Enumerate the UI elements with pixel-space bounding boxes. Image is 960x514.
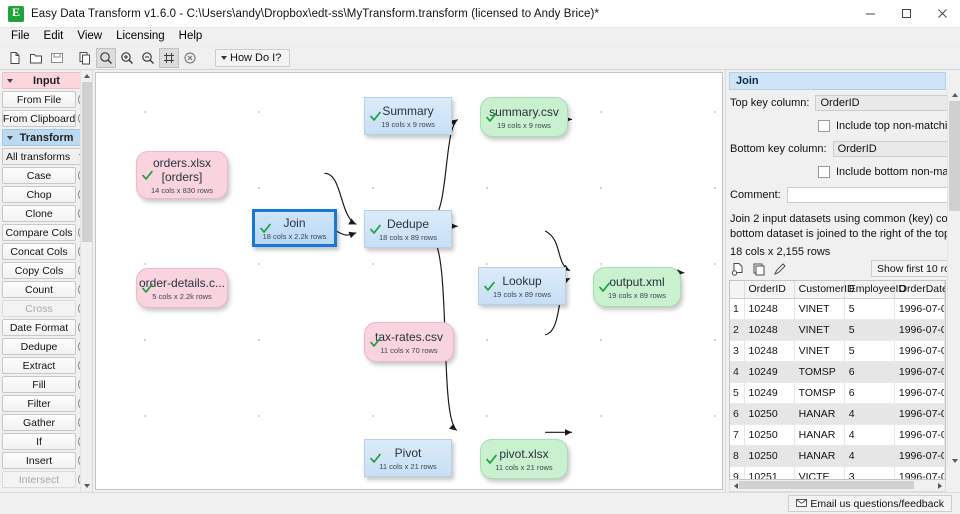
sidebar-input-list: From File?From Clipboard? <box>2 91 91 129</box>
table-cell[interactable]: VICTE <box>794 466 844 480</box>
node-label: Pivot <box>395 446 422 460</box>
sidebar-transform-compare-cols[interactable]: Compare Cols <box>2 224 76 241</box>
table-cell[interactable]: 10248 <box>744 340 794 361</box>
top-key-select[interactable]: OrderID <box>815 95 957 111</box>
table-cell[interactable]: 10249 <box>744 382 794 403</box>
app-logo-icon <box>8 6 24 22</box>
check-mark-icon <box>485 453 497 465</box>
grid-dot <box>714 111 716 113</box>
node-size-label: 18 cols x 2.2k rows <box>263 232 327 241</box>
grid-dot <box>144 263 146 265</box>
column-header-orderdate[interactable]: OrderDate <box>894 281 944 298</box>
check-mark-icon <box>141 282 153 294</box>
sidebar-row: Fill? <box>2 376 91 393</box>
row-number: 3 <box>730 340 744 361</box>
table-cell[interactable]: 6 <box>844 361 894 382</box>
flow-canvas[interactable]: orders.xlsx[orders]14 cols x 830 rowsord… <box>95 72 723 490</box>
inspector-form: Top key column: OrderID Include top non-… <box>726 90 960 210</box>
sidebar-input-label: Input <box>33 75 60 87</box>
scrollbar-thumb[interactable] <box>82 82 92 242</box>
include-bottom-checkbox[interactable] <box>818 166 830 178</box>
table-cell[interactable]: VINET <box>794 298 844 319</box>
sidebar-transform-intersect: Intersect <box>2 471 76 488</box>
zoom-fit-icon[interactable] <box>96 48 116 68</box>
sidebar-transform-fill[interactable]: Fill <box>2 376 76 393</box>
row-number: 4 <box>730 361 744 382</box>
table-cell[interactable]: HANAR <box>794 424 844 445</box>
window-title: Easy Data Transform v1.6.0 - C:\Users\an… <box>31 8 599 20</box>
triangle-down-icon <box>84 484 90 488</box>
canvas-node-dedupe[interactable]: Dedupe18 cols x 89 rows <box>364 210 452 248</box>
grid-dot <box>258 111 260 113</box>
include-top-label: Include top non-matching r <box>836 120 960 132</box>
scrollbar-thumb[interactable] <box>949 101 960 211</box>
menu-view[interactable]: View <box>70 28 109 46</box>
sidebar-row: Chop? <box>2 186 91 203</box>
grid-dot <box>600 111 602 113</box>
row-number-header <box>730 281 744 298</box>
table-cell[interactable]: 1996-07-04 <box>894 340 944 361</box>
email-feedback-label: Email us questions/feedback <box>810 498 944 510</box>
canvas-node-join[interactable]: Join18 cols x 2.2k rows <box>252 209 337 247</box>
grid-dot <box>486 339 488 341</box>
transform-filter-value: All transforms <box>6 151 70 163</box>
sidebar-row: Compare Cols? <box>2 224 91 241</box>
sidebar-transform-chop[interactable]: Chop <box>2 186 76 203</box>
table-row[interactable]: 510249TOMSP61996-07-05 <box>730 382 945 403</box>
table-cell[interactable]: 4 <box>844 445 894 466</box>
table-cell[interactable]: 1996-07-08 <box>894 424 944 445</box>
grid-dot <box>258 263 260 265</box>
node-size-label: 18 cols x 89 rows <box>379 233 437 242</box>
triangle-right-icon <box>938 483 942 489</box>
include-top-checkbox[interactable] <box>818 120 830 132</box>
sidebar-transform-gather[interactable]: Gather <box>2 414 76 431</box>
bottom-key-row: Bottom key column: OrderID <box>730 141 957 157</box>
table-cell[interactable]: 5 <box>844 319 894 340</box>
status-bar: Email us questions/feedback <box>0 492 960 514</box>
check-mark-icon <box>369 223 381 235</box>
table-cell[interactable]: 1996-07-05 <box>894 361 944 382</box>
canvas-node-output-xml[interactable]: output.xml19 cols x 89 rows <box>593 267 681 307</box>
table-row[interactable]: 710250HANAR41996-07-08 <box>730 424 945 445</box>
triangle-down-icon <box>952 459 958 463</box>
menu-edit[interactable]: Edit <box>37 28 71 46</box>
sidebar-row: Date Format? <box>2 319 91 336</box>
check-mark-icon <box>598 281 610 293</box>
bottom-key-label: Bottom key column: <box>730 143 827 155</box>
canvas-node-summary-csv[interactable]: summary.csv19 cols x 9 rows <box>480 97 568 137</box>
scroll-up-button[interactable] <box>948 88 960 101</box>
grid-dot <box>144 339 146 341</box>
menu-licensing[interactable]: Licensing <box>109 28 172 46</box>
scroll-up-button[interactable] <box>81 70 93 82</box>
table-cell[interactable]: 1996-07-08 <box>894 466 944 480</box>
node-size-label: 11 cols x 21 rows <box>495 463 552 472</box>
include-top-row: Include top non-matching r <box>730 118 957 134</box>
row-number: 2 <box>730 319 744 340</box>
dataset-size-label: 18 cols x 2,155 rows <box>726 242 960 260</box>
node-label: Dedupe <box>387 217 429 231</box>
sidebar-row: Copy Cols? <box>2 262 91 279</box>
table-row[interactable]: 910251VICTE31996-07-08 <box>730 466 945 480</box>
grid-dot <box>372 263 374 265</box>
sidebar-row: Count? <box>2 281 91 298</box>
node-size-label: 19 cols x 9 rows <box>497 121 551 130</box>
grid-horizontal-scrollbar[interactable] <box>729 480 946 492</box>
table-cell[interactable]: 1996-07-05 <box>894 382 944 403</box>
sidebar-row: Clone? <box>2 205 91 222</box>
node-size-label: 14 cols x 830 rows <box>151 186 213 195</box>
grid-icon[interactable] <box>159 48 179 68</box>
inspector-scrollbar[interactable] <box>947 88 960 467</box>
table-cell[interactable]: 3 <box>844 466 894 480</box>
comment-row: Comment: <box>730 187 957 203</box>
node-label: tax-rates.csv <box>375 330 443 344</box>
sidebar-row: Filter? <box>2 395 91 412</box>
save-icon[interactable] <box>47 48 67 68</box>
node-size-label: 19 cols x 9 rows <box>381 120 435 129</box>
hscroll-thumb[interactable] <box>739 481 914 489</box>
grid-dot <box>600 187 602 189</box>
table-cell[interactable]: 1996-07-08 <box>894 445 944 466</box>
canvas-node-lookup[interactable]: Lookup19 cols x 89 rows <box>478 267 566 305</box>
sidebar-input-from-clipboard[interactable]: From Clipboard <box>2 110 76 127</box>
table-cell[interactable]: 6 <box>844 382 894 403</box>
node-label: Join <box>283 216 305 230</box>
check-mark-icon <box>369 110 381 122</box>
sidebar-section-transform[interactable]: Transform <box>2 129 91 146</box>
sidebar-transform-extract[interactable]: Extract <box>2 357 76 374</box>
inspector-toolbar: Show first 10 ro <box>726 260 960 279</box>
check-mark-icon <box>141 169 153 181</box>
table-cell[interactable]: 10250 <box>744 445 794 466</box>
sidebar-scroll-area: Input From File?From Clipboard? Transfor… <box>0 70 92 492</box>
grid-dot <box>258 187 260 189</box>
node-label: Summary <box>382 104 433 118</box>
sidebar-transform-insert[interactable]: Insert <box>2 452 76 469</box>
toolbar: How Do I? <box>0 47 960 70</box>
grid-dot <box>144 111 146 113</box>
top-key-label: Top key column: <box>730 97 809 109</box>
table-row[interactable]: 110248VINET51996-07-04 <box>730 298 945 319</box>
table-cell[interactable]: 10250 <box>744 424 794 445</box>
triangle-up-icon <box>952 93 958 97</box>
column-header-customerid[interactable]: CustomerID <box>794 281 844 298</box>
data-grid[interactable]: OrderIDCustomerIDEmployeeIDOrderDate 110… <box>729 280 946 480</box>
canvas-node-tax-rates[interactable]: tax-rates.csv11 cols x 70 rows <box>364 322 454 362</box>
check-mark-icon <box>369 452 381 464</box>
table-cell[interactable]: HANAR <box>794 403 844 424</box>
copy-clipboard-icon[interactable] <box>751 261 766 276</box>
canvas-node-order-details[interactable]: order-details.c...5 cols x 2.2k rows <box>136 268 228 308</box>
node-sublabel: [orders] <box>162 170 203 184</box>
main-body: Input From File?From Clipboard? Transfor… <box>0 70 960 492</box>
transform-filter-select[interactable]: All transforms <box>2 148 91 165</box>
scroll-right-button[interactable] <box>936 482 943 489</box>
include-bottom-label: Include bottom non-matchi <box>836 166 960 178</box>
sidebar-transform-date-format[interactable]: Date Format <box>2 319 76 336</box>
cancel-icon[interactable] <box>180 48 200 68</box>
grid-dot <box>372 187 374 189</box>
grid-dot <box>372 415 374 417</box>
title-bar: Easy Data Transform v1.6.0 - C:\Users\an… <box>0 0 960 28</box>
table-row[interactable]: 310248VINET51996-07-04 <box>730 340 945 361</box>
include-bottom-row: Include bottom non-matchi <box>730 164 957 180</box>
table-cell[interactable]: 5 <box>844 298 894 319</box>
node-label: summary.csv <box>489 105 559 119</box>
row-number: 8 <box>730 445 744 466</box>
check-mark-icon <box>485 111 497 123</box>
grid-dot <box>600 339 602 341</box>
new-file-icon[interactable] <box>730 261 745 276</box>
table-cell[interactable]: TOMSP <box>794 361 844 382</box>
grid-dot <box>486 415 488 417</box>
sidebar-transform-if[interactable]: If <box>2 433 76 450</box>
table-cell[interactable]: TOMSP <box>794 382 844 403</box>
node-size-label: 11 cols x 70 rows <box>380 346 437 355</box>
node-label: pivot.xlsx <box>499 447 548 461</box>
sidebar-row: From Clipboard? <box>2 110 91 127</box>
menu-file[interactable]: File <box>4 28 37 46</box>
application-window: Easy Data Transform v1.6.0 - C:\Users\an… <box>0 0 960 514</box>
table-row[interactable]: 810250HANAR41996-07-08 <box>730 445 945 466</box>
triangle-left-icon <box>734 483 738 489</box>
sidebar-row: Concat Cols? <box>2 243 91 260</box>
sidebar-row: Insert? <box>2 452 91 469</box>
sidebar-transform-case[interactable]: Case <box>2 167 76 184</box>
collapse-triangle-icon <box>7 79 13 83</box>
check-mark-icon <box>259 222 271 234</box>
left-sidebar: Input From File?From Clipboard? Transfor… <box>0 70 93 492</box>
sidebar-section-input[interactable]: Input <box>2 72 91 89</box>
sidebar-row: Gather? <box>2 414 91 431</box>
canvas-node-pivot-xlsx[interactable]: pivot.xlsx11 cols x 21 rows <box>480 439 568 479</box>
sidebar-row: From File? <box>2 91 91 108</box>
collapse-triangle-icon <box>7 136 13 140</box>
minimize-button[interactable] <box>852 0 888 28</box>
table-cell[interactable]: 5 <box>844 340 894 361</box>
edit-pencil-icon[interactable] <box>772 261 787 276</box>
table-header-row: OrderIDCustomerIDEmployeeIDOrderDate <box>730 281 945 298</box>
inspector-description: Join 2 input datasets using common (key)… <box>726 210 960 242</box>
comment-input[interactable] <box>787 187 957 203</box>
scroll-down-button[interactable] <box>81 480 93 492</box>
grid-dot <box>486 263 488 265</box>
node-size-label: 19 cols x 89 rows <box>493 290 551 299</box>
table-cell[interactable]: 10250 <box>744 403 794 424</box>
how-do-i-button[interactable]: How Do I? <box>215 49 290 67</box>
grid-dot <box>600 263 602 265</box>
node-label: output.xml <box>609 275 664 289</box>
sidebar-row: Cross? <box>2 300 91 317</box>
table-cell[interactable]: 4 <box>844 403 894 424</box>
table-cell[interactable]: 1996-07-04 <box>894 319 944 340</box>
sidebar-row: Intersect? <box>2 471 91 488</box>
node-size-label: 11 cols x 21 rows <box>379 462 436 471</box>
column-header-employeeid[interactable]: EmployeeID <box>844 281 894 298</box>
canvas-area: orders.xlsx[orders]14 cols x 830 rowsord… <box>93 70 725 492</box>
row-number: 1 <box>730 298 744 319</box>
sidebar-row: Extract? <box>2 357 91 374</box>
grid-dot <box>600 415 602 417</box>
sidebar-transform-label: Transform <box>20 132 74 144</box>
grid-dot <box>486 187 488 189</box>
table-cell[interactable]: 1996-07-04 <box>894 298 944 319</box>
row-number: 6 <box>730 403 744 424</box>
node-size-label: 19 cols x 89 rows <box>608 291 666 300</box>
scroll-left-button[interactable] <box>732 482 739 489</box>
canvas-node-pivot[interactable]: Pivot11 cols x 21 rows <box>364 439 452 477</box>
table-cell[interactable]: 10249 <box>744 361 794 382</box>
table-cell[interactable]: 4 <box>844 424 894 445</box>
table-body: 110248VINET51996-07-04210248VINET51996-0… <box>730 298 945 480</box>
table-cell[interactable]: VINET <box>794 319 844 340</box>
close-button[interactable] <box>924 0 960 28</box>
zoom-in-icon[interactable] <box>117 48 137 68</box>
copy-icon[interactable] <box>75 48 95 68</box>
sidebar-row: Case? <box>2 167 91 184</box>
table-cell[interactable]: VINET <box>794 340 844 361</box>
sidebar-transform-list: Case?Chop?Clone?Compare Cols?Concat Cols… <box>2 167 91 490</box>
sidebar-transform-concat-cols[interactable]: Concat Cols <box>2 243 76 260</box>
grid-dot <box>714 187 716 189</box>
table-row[interactable]: 610250HANAR41996-07-08 <box>730 403 945 424</box>
table-row[interactable]: 210248VINET51996-07-04 <box>730 319 945 340</box>
check-mark-icon <box>369 336 381 348</box>
table-cell[interactable]: 10251 <box>744 466 794 480</box>
grid-dot <box>714 339 716 341</box>
bottom-key-select[interactable]: OrderID <box>833 141 957 157</box>
sidebar-transform-count[interactable]: Count <box>2 281 76 298</box>
window-controls <box>852 0 960 28</box>
table-cell[interactable]: 10248 <box>744 319 794 340</box>
sidebar-transform-copy-cols[interactable]: Copy Cols <box>2 262 76 279</box>
new-icon[interactable] <box>5 48 25 68</box>
scroll-down-button[interactable] <box>948 454 960 467</box>
inspector-title: Join <box>729 72 946 90</box>
chevron-down-icon <box>221 56 227 60</box>
table-cell[interactable]: 1996-07-08 <box>894 403 944 424</box>
sidebar-transform-cross: Cross <box>2 300 76 317</box>
sidebar-row: Dedupe? <box>2 338 91 355</box>
show-first-rows-button[interactable]: Show first 10 ro <box>871 260 956 277</box>
description-line-2: bottom dataset is joined to the right of… <box>730 227 957 242</box>
email-feedback-button[interactable]: Email us questions/feedback <box>788 495 952 512</box>
open-icon[interactable] <box>26 48 46 68</box>
link-dedupe-to-lookup <box>545 231 570 271</box>
grid-dot <box>714 263 716 265</box>
menu-help[interactable]: Help <box>172 28 210 46</box>
canvas-node-orders[interactable]: orders.xlsx[orders]14 cols x 830 rows <box>136 151 228 199</box>
row-number: 5 <box>730 382 744 403</box>
node-label: orders.xlsx <box>153 156 211 170</box>
sidebar-transform-dedupe[interactable]: Dedupe <box>2 338 76 355</box>
grid-dot <box>144 415 146 417</box>
table-row[interactable]: 410249TOMSP61996-07-05 <box>730 361 945 382</box>
sidebar-scrollbar[interactable] <box>80 70 92 492</box>
node-label: Lookup <box>502 274 541 288</box>
triangle-up-icon <box>84 74 90 78</box>
node-size-label: 5 cols x 2.2k rows <box>152 292 212 301</box>
column-header-orderid[interactable]: OrderID <box>744 281 794 298</box>
row-number: 9 <box>730 466 744 480</box>
envelope-icon <box>796 498 807 510</box>
how-do-i-label: How Do I? <box>230 52 281 64</box>
description-line-1: Join 2 input datasets using common (key)… <box>730 212 957 227</box>
row-number: 7 <box>730 424 744 445</box>
inspector-panel: Join Top key column: OrderID Include top… <box>725 70 960 492</box>
sidebar-transform-filter[interactable]: Filter <box>2 395 76 412</box>
grid-dot <box>258 339 260 341</box>
top-key-row: Top key column: OrderID <box>730 95 957 111</box>
zoom-out-icon[interactable] <box>138 48 158 68</box>
menu-bar: File Edit View Licensing Help <box>0 28 960 47</box>
grid-dot <box>258 415 260 417</box>
table-cell[interactable]: HANAR <box>794 445 844 466</box>
grid-dot <box>714 415 716 417</box>
table-cell[interactable]: 10248 <box>744 298 794 319</box>
sidebar-input-from-file[interactable]: From File <box>2 91 76 108</box>
sidebar-transform-clone[interactable]: Clone <box>2 205 76 222</box>
comment-label: Comment: <box>730 189 781 201</box>
canvas-node-summary[interactable]: Summary19 cols x 9 rows <box>364 97 452 135</box>
check-mark-icon <box>483 280 495 292</box>
data-table: OrderIDCustomerIDEmployeeIDOrderDate 110… <box>730 281 945 480</box>
sidebar-row: If? <box>2 433 91 450</box>
maximize-button[interactable] <box>888 0 924 28</box>
